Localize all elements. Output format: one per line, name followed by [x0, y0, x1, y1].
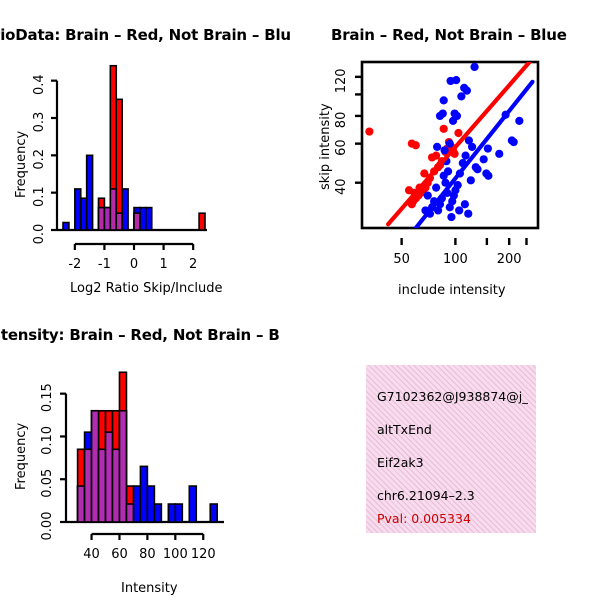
hist-bar-overlap — [116, 213, 122, 230]
x-tick-label: 80 — [139, 547, 156, 562]
y-tick-label: 0.0 — [32, 224, 47, 245]
scatter-point-not-brain — [510, 138, 518, 146]
x-tick-label: 40 — [83, 547, 100, 562]
y-tick-label: 0.05 — [40, 469, 55, 498]
hist-bar-not-brain — [81, 198, 87, 230]
hist-bar-not-brain — [147, 486, 154, 522]
scatter-point-not-brain — [484, 144, 492, 152]
hist-bar-overlap — [110, 189, 116, 230]
scatter-point-not-brain — [447, 213, 455, 221]
plot-area-ratio: 0.00.10.20.30.4-2-1012 — [0, 0, 300, 280]
scatter-point-not-brain — [495, 150, 503, 158]
y-tick-label: 0.00 — [40, 512, 55, 541]
gene-info-line-locus: chr6.21094–2.3 — [377, 488, 475, 503]
gene-info-line-pval: Pval: 0.005334 — [377, 511, 471, 526]
scatter-point-not-brain — [446, 203, 454, 211]
gene-info-line-event: altTxEnd — [377, 422, 432, 437]
x-tick-label: -2 — [68, 257, 81, 272]
scatter-point-not-brain — [484, 172, 492, 180]
x-tick-label: 100 — [163, 547, 188, 562]
axis-label-intensity: Intensity — [121, 581, 178, 596]
hist-bar-not-brain — [154, 504, 161, 522]
scatter-point-not-brain — [515, 117, 523, 125]
scatter-point-not-brain — [444, 167, 452, 175]
scatter-point-not-brain — [480, 155, 488, 163]
axis-label-include-intensity: include intensity — [398, 283, 506, 298]
x-tick-label: 120 — [191, 547, 216, 562]
panel-ratio-histogram: RatioData: Brain – Red, Not Brain – Blu … — [0, 0, 300, 300]
gene-info-line-id: G7102362@J938874@j_ — [377, 389, 528, 404]
scatter-point-not-brain — [457, 92, 465, 100]
panel-gene-info: G7102362@J938874@j_ altTxEnd Eif2ak3 chr… — [300, 300, 600, 600]
x-tick-label: 2 — [189, 257, 197, 272]
hist-bar-not-brain — [63, 223, 69, 230]
axis-label-log2ratio: Log2 Ratio Skip/Include — [70, 281, 222, 296]
y-tick-label: 0.2 — [32, 149, 47, 170]
hist-bar-overlap — [112, 449, 119, 522]
y-tick-label: 60 — [334, 139, 349, 156]
hist-bar-overlap — [78, 486, 85, 522]
y-tick-label: 0.1 — [32, 186, 47, 207]
scatter-point-not-brain — [473, 165, 481, 173]
scatter-point-brain — [454, 129, 462, 137]
hist-bar-overlap — [92, 411, 99, 522]
hist-bar-overlap — [99, 449, 106, 522]
x-tick-label: -1 — [98, 257, 111, 272]
scatter-point-not-brain — [464, 210, 472, 218]
y-tick-label: 0.10 — [40, 426, 55, 455]
hist-bar-not-brain — [210, 504, 217, 522]
scatter-point-brain — [365, 127, 373, 135]
x-tick-label: 60 — [111, 547, 128, 562]
hist-bar-not-brain — [140, 208, 146, 230]
scatter-point-not-brain — [452, 76, 460, 84]
panel-gene-intensity-histogram: ne Itensity: Brain – Red, Not Brain – B … — [0, 300, 300, 600]
scatter-point-not-brain — [440, 96, 448, 104]
x-tick-label: 50 — [393, 252, 410, 267]
y-tick-label: 120 — [334, 68, 349, 93]
x-tick-label: 100 — [443, 252, 468, 267]
gene-info-text-clip: G7102362@J938874@j_ altTxEnd Eif2ak3 chr… — [366, 365, 536, 533]
scatter-point-not-brain — [461, 200, 469, 208]
gene-info-box: G7102362@J938874@j_ altTxEnd Eif2ak3 chr… — [366, 365, 536, 533]
scatter-point-not-brain — [449, 117, 457, 125]
scatter-point-brain — [440, 125, 448, 133]
y-tick-label: 80 — [334, 112, 349, 129]
scatter-point-not-brain — [446, 140, 454, 148]
x-tick-label: 0 — [130, 257, 138, 272]
scatter-point-not-brain — [433, 143, 441, 151]
scatter-point-not-brain — [461, 151, 469, 159]
x-tick-label: 200 — [497, 252, 522, 267]
gene-info-line-gene: Eif2ak3 — [377, 455, 424, 470]
plot-area-scatter: 40608012050100200 — [300, 0, 600, 280]
y-tick-label: 0.4 — [32, 74, 47, 95]
plot-area-gene-intensity: 0.000.050.100.15406080100120 — [0, 300, 300, 580]
hist-bar-overlap — [134, 213, 140, 230]
y-tick-label: 40 — [334, 178, 349, 195]
hist-bar-not-brain — [122, 189, 128, 230]
hist-bar-not-brain — [140, 466, 147, 522]
scatter-point-brain — [412, 141, 420, 149]
hist-bar-overlap — [99, 208, 105, 230]
scatter-content — [365, 62, 532, 228]
hist-bar-overlap — [106, 432, 113, 522]
hist-bar-overlap — [104, 208, 110, 230]
scatter-point-not-brain — [470, 63, 478, 71]
hist-bar-not-brain — [146, 208, 152, 230]
hist-bar-overlap — [119, 411, 126, 522]
hist-bar-not-brain — [175, 504, 182, 522]
scatter-point-not-brain — [424, 191, 432, 199]
scatter-point-not-brain — [467, 176, 475, 184]
y-tick-label: 0.15 — [40, 383, 55, 412]
panel-intensity-scatter: Brain – Red, Not Brain – Blue skip inten… — [300, 0, 600, 300]
hist-bar-brain — [116, 99, 122, 230]
hist-bar-overlap — [85, 449, 92, 522]
hist-bar-not-brain — [168, 504, 175, 522]
scatter-point-not-brain — [436, 112, 444, 120]
hist-bar-not-brain — [133, 486, 140, 522]
hist-bar-overlap — [126, 504, 133, 522]
x-tick-label: 1 — [159, 257, 167, 272]
y-tick-label: 0.3 — [32, 112, 47, 133]
hist-bar-not-brain — [189, 486, 196, 522]
scatter-point-brain — [432, 151, 440, 159]
hist-bar-brain — [199, 213, 205, 230]
hist-bar-not-brain — [75, 189, 81, 230]
scatter-point-not-brain — [432, 184, 440, 192]
scatter-point-brain — [405, 186, 413, 194]
hist-bar-not-brain — [87, 155, 93, 230]
scatter-point-not-brain — [455, 206, 463, 214]
